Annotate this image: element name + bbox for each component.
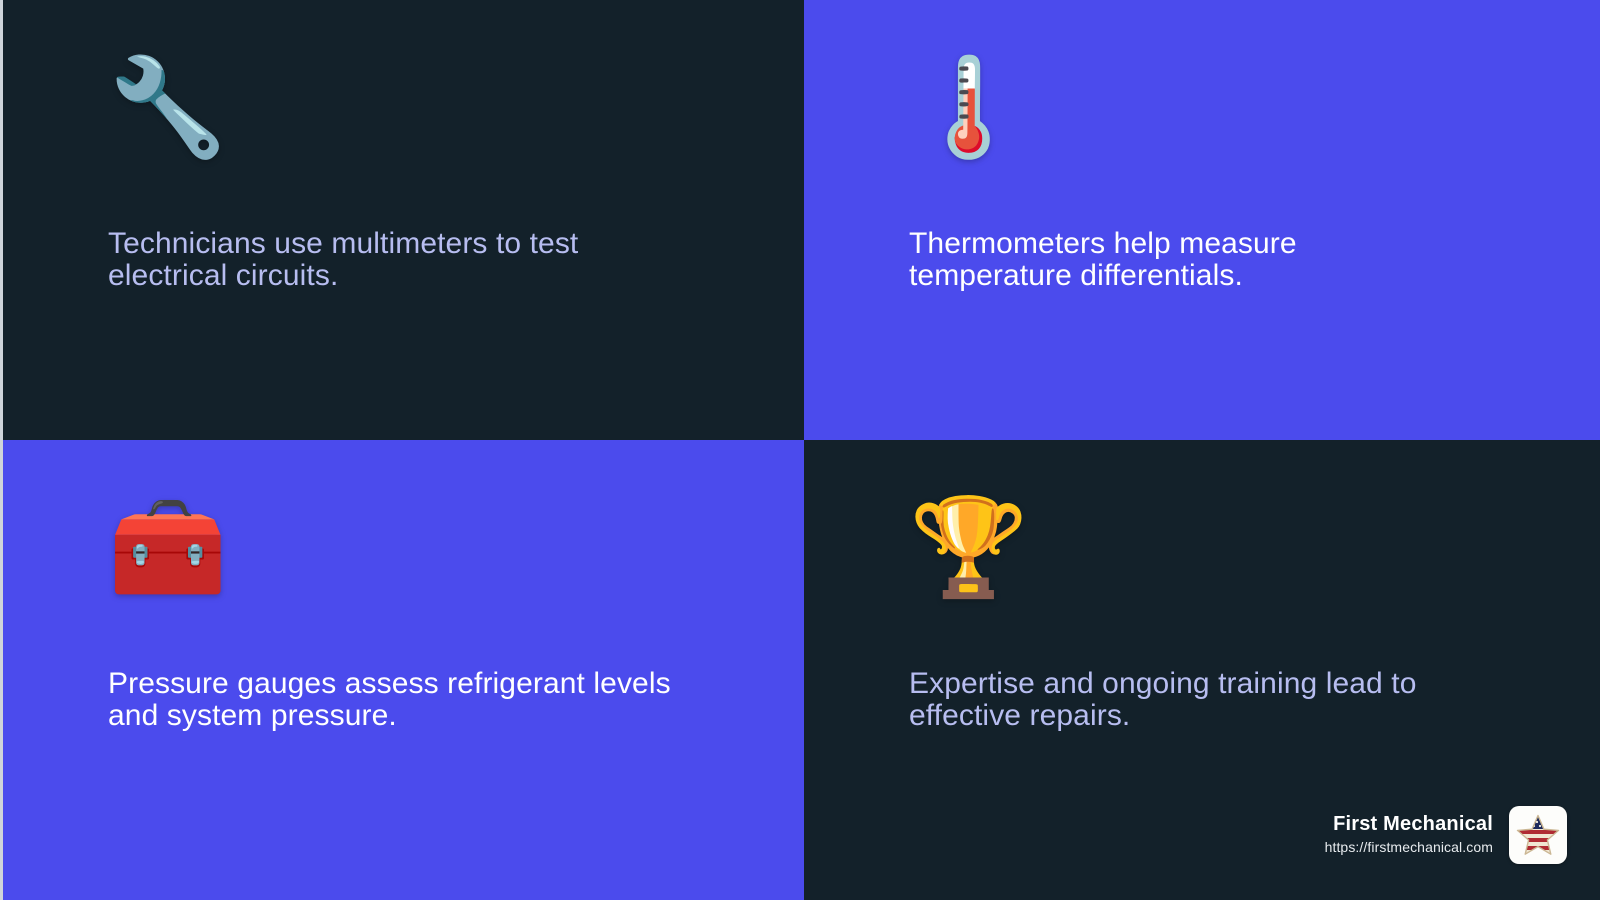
panel-top-right-icon-wrap: 🌡️ [909,60,1558,190]
wrench-emoji-icon: 🔧 [108,60,228,156]
panel-bottom-right: 🏆 Expertise and ongoing training lead to… [804,440,1600,900]
panel-top-left-icon-wrap: 🔧 [108,60,759,190]
panel-bottom-left-caption: Pressure gauges assess refrigerant level… [108,668,728,731]
panel-top-right-caption: Thermometers help measure temperature di… [909,228,1529,291]
quadrant-infographic: 🔧 Technicians use multimeters to test el… [0,0,1600,900]
panel-bottom-left-icon-wrap: 🧰 [108,500,759,630]
branding-text: First Mechanical https://firstmechanical… [1325,812,1493,858]
panel-top-left-caption: Technicians use multimeters to test elec… [108,228,728,291]
panel-bottom-left: 🧰 Pressure gauges assess refrigerant lev… [3,440,804,900]
trophy-emoji-icon: 🏆 [909,500,1029,596]
brand-name: First Mechanical [1325,812,1493,837]
panel-bottom-right-icon-wrap: 🏆 [909,500,1558,630]
brand-url[interactable]: https://firstmechanical.com [1325,837,1493,858]
thermometer-emoji-icon: 🌡️ [909,60,1029,156]
toolbox-emoji-icon: 🧰 [108,500,228,596]
panel-top-right: 🌡️ Thermometers help measure temperature… [804,0,1600,440]
usa-flag-star-icon [1509,806,1567,864]
panel-top-left: 🔧 Technicians use multimeters to test el… [3,0,804,440]
branding-block: First Mechanical https://firstmechanical… [1325,806,1567,864]
panel-bottom-right-caption: Expertise and ongoing training lead to e… [909,668,1529,731]
